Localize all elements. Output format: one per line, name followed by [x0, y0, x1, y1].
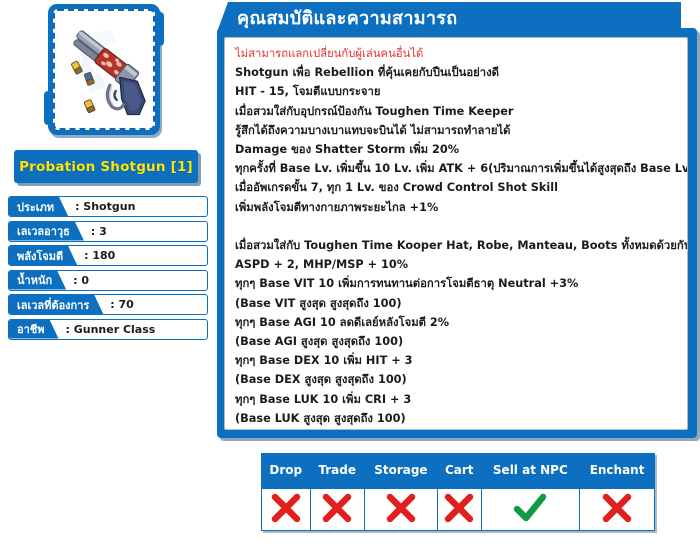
stat-row-attack: พลังโจมตี : 180 — [8, 245, 208, 266]
description-text-area: ไม่สามารถแลกเปลี่ยนกับผู้เล่นคนอื่นได้ S… — [224, 37, 688, 430]
action-cell-enchant — [580, 489, 655, 531]
action-header-trade: Trade — [310, 453, 364, 489]
item-stat-list: ประเภท : Shotgun เลเวลอาวุธ : 3 พลังโจมต… — [8, 196, 208, 343]
shotgun-icon — [55, 11, 153, 128]
description-line: เมื่อสวมใส่กับอุปกรณ์ป้องกัน Toughen Tim… — [235, 102, 677, 121]
stat-row-type: ประเภท : Shotgun — [8, 196, 208, 217]
description-line: ทุกๆ Base AGI 10 ลดดีเลย์หลังโจมตี 2% — [235, 313, 677, 332]
cross-icon — [442, 491, 476, 525]
stat-label: เลเวลที่ต้องการ — [9, 295, 103, 314]
stat-label: เลเวลอาวุธ — [9, 222, 84, 241]
description-line: HIT - 15, โจมตีแบบกระจาย — [235, 82, 677, 101]
description-line: Damage ของ Shatter Storm เพิ่ม 20% — [235, 140, 677, 159]
stat-row-job: อาชีพ : Gunner Class — [8, 319, 208, 340]
action-cell-storage — [364, 489, 437, 531]
item-name-banner: Probation Shotgun [1] — [14, 150, 198, 183]
frame-notch-bottom-left — [44, 91, 53, 125]
stat-value: : 180 — [77, 249, 115, 262]
stat-row-weapon-level: เลเวลอาวุธ : 3 — [8, 221, 208, 242]
description-line: เมื่ออัพเกรดขั้น 7, ทุก 1 Lv. ของ Crowd … — [235, 178, 677, 197]
description-line: (Base LUK สูงสุด สูงสุดถึง 100) — [235, 409, 677, 428]
item-image-inner — [53, 9, 155, 130]
action-cell-sell-at-npc — [481, 489, 580, 531]
action-header-drop: Drop — [262, 453, 311, 489]
item-image-frame[interactable] — [48, 4, 160, 135]
description-line: ทุกๆ Base DEX 10 เพิ่ม HIT + 3 — [235, 351, 677, 370]
item-action-table: Drop Trade Storage Cart Sell at NPC Ench… — [261, 453, 655, 531]
description-line: ทุกครั้งที่ Base Lv. เพิ่มขึ้น 10 Lv. เพ… — [235, 159, 677, 178]
stat-label: พลังโจมตี — [9, 246, 77, 265]
stat-value: : Shotgun — [68, 200, 135, 213]
description-line: (Base AGI สูงสุด สูงสุดถึง 100) — [235, 332, 677, 351]
action-cell-drop — [262, 489, 311, 531]
description-line: รู้สึกได้ถึงความบางเบาแทบจะบินได้ ไม่สาม… — [235, 121, 677, 140]
action-cell-trade — [310, 489, 364, 531]
description-line: Shotgun เพื่อ Rebellion ที่คุ้นเคยกับปืน… — [235, 63, 677, 82]
action-header-cart: Cart — [437, 453, 481, 489]
stat-value: : 70 — [103, 298, 134, 311]
stat-value: : Gunner Class — [59, 323, 156, 336]
stat-value: : 3 — [84, 225, 107, 238]
stat-label: อาชีพ — [9, 320, 59, 339]
cross-icon — [320, 491, 354, 525]
item-name-label: Probation Shotgun [1] — [19, 159, 193, 175]
cross-icon — [600, 491, 634, 525]
stat-label: ประเภท — [9, 197, 68, 216]
description-line: ไม่สามารถแลกเปลี่ยนกับผู้เล่นคนอื่นได้ — [235, 44, 677, 63]
action-header-enchant: Enchant — [580, 453, 655, 489]
description-line: (Base DEX สูงสุด สูงสุดถึง 100) — [235, 370, 677, 389]
description-line: ASPD + 2, MHP/MSP + 10% — [235, 255, 677, 274]
description-line: เพิ่มพลังโจมตีทางกายภาพระยะไกล +1% — [235, 198, 677, 217]
cross-icon — [269, 491, 303, 525]
stat-row-weight: น้ำหนัก : 0 — [8, 270, 208, 291]
description-line-spacer — [235, 217, 677, 236]
description-panel: ไม่สามารถแลกเปลี่ยนกับผู้เล่นคนอื่นได้ S… — [217, 28, 697, 438]
action-header-sell-at-npc: Sell at NPC — [481, 453, 580, 489]
description-line: เมื่อสวมใส่กับ Toughen Time Kooper Hat, … — [235, 236, 677, 255]
action-table-header-row: Drop Trade Storage Cart Sell at NPC Ench… — [262, 453, 655, 489]
action-cell-cart — [437, 489, 481, 531]
check-icon — [512, 491, 548, 525]
description-line: ทุกๆ Base LUK 10 เพิ่ม CRI + 3 — [235, 390, 677, 409]
action-header-storage: Storage — [364, 453, 437, 489]
description-line: (Base VIT สูงสุด สูงสุดถึง 100) — [235, 294, 677, 313]
frame-notch-top-right — [155, 12, 164, 46]
action-table-value-row — [262, 489, 655, 531]
cross-icon — [384, 491, 418, 525]
description-line: ทุกๆ Base VIT 10 เพิ่มการทนทานต่อการโจมต… — [235, 274, 677, 293]
stat-value: : 0 — [66, 274, 89, 287]
stat-row-required-level: เลเวลที่ต้องการ : 70 — [8, 294, 208, 315]
item-summary-column: Probation Shotgun [1] ประเภท : Shotgun เ… — [0, 0, 214, 553]
stat-label: น้ำหนัก — [9, 271, 66, 290]
